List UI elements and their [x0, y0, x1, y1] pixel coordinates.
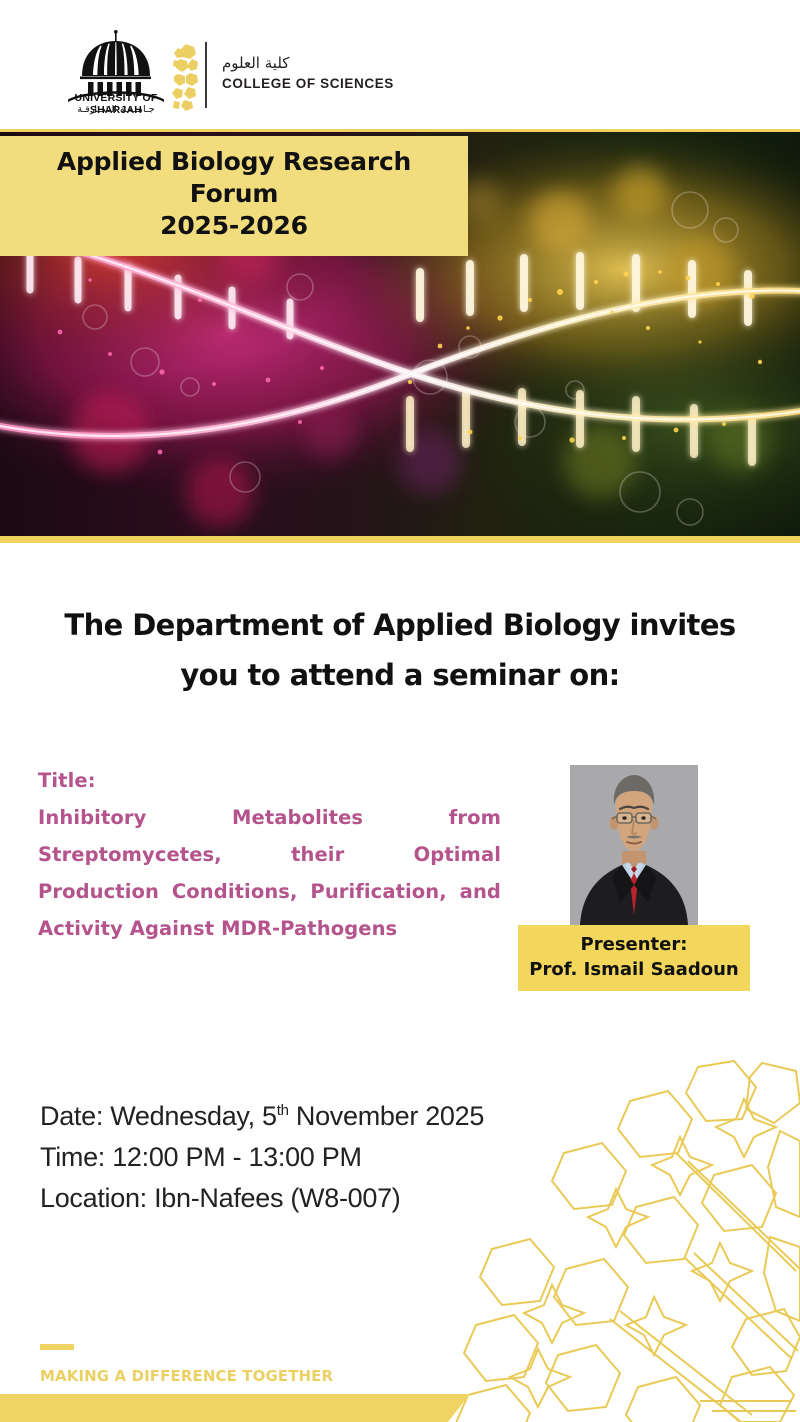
college-arabic-label: كلية العلوم [222, 54, 482, 73]
forum-title-line-1: Applied Biology Research Forum [26, 146, 442, 210]
header-logo-bar: جـامــعـة الشــارقـة UNIVERSITY OF SHARJ… [0, 0, 800, 132]
event-date-rest: November 2025 [289, 1101, 484, 1131]
footer-bar [0, 1386, 800, 1422]
hero-bottom-rule [0, 536, 800, 543]
event-date: Date: Wednesday, 5 [40, 1101, 277, 1131]
event-date-line: Date: Wednesday, 5th November 2025 [40, 1090, 660, 1137]
seminar-title-label: Title: [38, 762, 501, 799]
hero-top-rule [0, 129, 800, 132]
invitation-line-1: The Department of Applied Biology invite… [34, 600, 766, 650]
forum-title-banner: Applied Biology Research Forum 2025-2026 [0, 136, 468, 256]
university-of-sharjah-logo: جـامــعـة الشــارقـة UNIVERSITY OF SHARJ… [52, 30, 180, 115]
footer-accent-dash [40, 1344, 74, 1350]
forum-title-line-2: 2025-2026 [26, 210, 442, 242]
logo-divider [205, 42, 207, 108]
presenter-portrait [570, 765, 698, 925]
event-time: Time: 12:00 PM - 13:00 PM [40, 1137, 660, 1178]
invitation-line-2: you to attend a seminar on: [34, 650, 766, 700]
event-location: Location: Ibn-Nafees (W8-007) [40, 1178, 660, 1219]
seminar-title-block: Title: Inhibitory Metabolites from Strep… [38, 762, 501, 947]
presenter-name: Prof. Ismail Saadoun [522, 957, 746, 982]
seminar-poster: جـامــعـة الشــارقـة UNIVERSITY OF SHARJ… [0, 0, 800, 1422]
footer-tagline: MAKING A DIFFERENCE TOGETHER [40, 1367, 333, 1385]
college-of-sciences-wordmark: كلية العلوم COLLEGE OF SCIENCES [222, 54, 482, 93]
event-date-ordinal: th [277, 1102, 289, 1119]
event-details: Date: Wednesday, 5th November 2025 Time:… [40, 1090, 660, 1219]
college-of-sciences-mark-icon [172, 42, 200, 112]
presenter-caption: Presenter: Prof. Ismail Saadoun [518, 925, 750, 991]
college-english-label: COLLEGE OF SCIENCES [222, 75, 482, 93]
university-english-label: UNIVERSITY OF SHARJAH [52, 92, 180, 116]
seminar-title-text: Inhibitory Metabolites from Streptomycet… [38, 799, 501, 947]
invitation-heading: The Department of Applied Biology invite… [0, 600, 800, 700]
presenter-caption-label: Presenter: [522, 932, 746, 957]
